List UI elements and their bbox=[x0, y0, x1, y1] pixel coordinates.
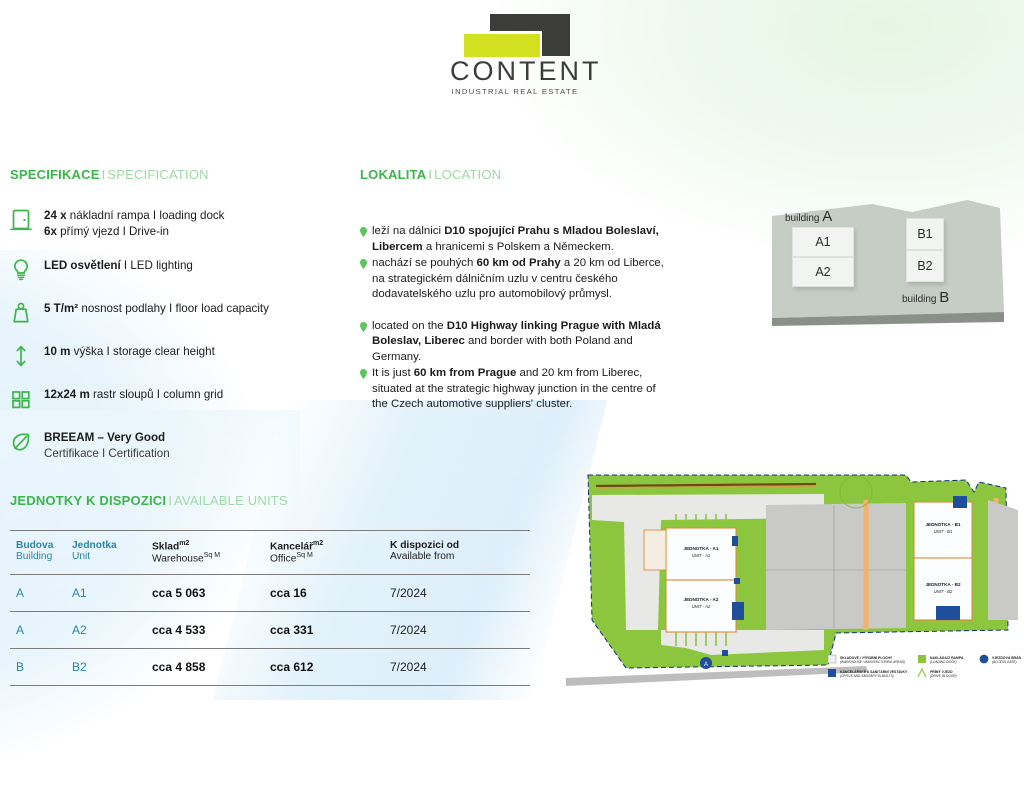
building-b-label-big: B bbox=[939, 289, 949, 306]
legend-label-2-en: (LOADING DOCK) bbox=[930, 660, 957, 664]
legend-label-1-en: (OFFICE AND SANITARY IN-BUILTS) bbox=[840, 674, 894, 678]
location-bullet-item: It is just 60 km from Prague and 20 km f… bbox=[360, 366, 670, 413]
unit-box-a1[interactable]: A1 bbox=[792, 227, 854, 257]
cell-available: 7/2024 bbox=[390, 648, 530, 685]
cell-building: B bbox=[10, 648, 72, 685]
unit-box-b1[interactable]: B1 bbox=[906, 218, 944, 250]
logo-shape-right bbox=[542, 14, 570, 56]
available-units-section: JEDNOTKY K DISPOZICIIAVAILABLE UNITS Bud… bbox=[10, 493, 530, 686]
cell-building: A bbox=[10, 611, 72, 648]
loc-pre-4: It is just bbox=[372, 367, 414, 379]
col-header-warehouse-unit-en: Sq M bbox=[204, 552, 220, 559]
map-pin-icon bbox=[360, 227, 367, 237]
table-header-row: Budova Building Jednotka Unit Skladm2 Wa… bbox=[10, 531, 530, 575]
specification-item: LED osvětlení I LED lighting bbox=[10, 257, 350, 282]
spec-bold-2: LED osvětlení bbox=[44, 259, 121, 272]
available-units-heading: JEDNOTKY K DISPOZICIIAVAILABLE UNITS bbox=[10, 493, 530, 508]
cell-warehouse: cca 4 533 bbox=[152, 611, 270, 648]
col-header-available: K dispozici od Available from bbox=[390, 531, 530, 575]
available-units-heading-en: AVAILABLE UNITS bbox=[174, 493, 288, 508]
loc-pre-1: leží na dálnici bbox=[372, 225, 444, 237]
col-header-available-en: Available from bbox=[390, 551, 530, 562]
col-header-building-en: Building bbox=[16, 551, 72, 562]
logo-tagline: INDUSTRIAL REAL ESTATE bbox=[450, 87, 580, 96]
spec-bold-1b: 6x bbox=[44, 225, 57, 238]
specification-item-text: 5 T/m² nosnost podlahy I floor load capa… bbox=[44, 300, 269, 317]
legend-label-0-en: (WAREHOUSE / MANUFACTURING AREAS) bbox=[840, 660, 905, 664]
location-bullet-item: leží na dálnici D10 spojující Prahu s Ml… bbox=[360, 224, 670, 255]
col-header-available-cz: K dispozici od bbox=[390, 540, 459, 551]
table-row[interactable]: A A1 cca 5 063 cca 16 7/2024 bbox=[10, 574, 530, 611]
location-heading: LOKALITAILOCATION bbox=[360, 167, 670, 182]
location-group-cz: leží na dálnici D10 spojující Prahu s Ml… bbox=[360, 224, 670, 303]
loc-post-1: a hranicemi s Polskem a Německem. bbox=[423, 241, 614, 253]
building-b-label-small: building bbox=[902, 294, 936, 305]
col-header-warehouse-en: Warehouse bbox=[152, 554, 204, 565]
specification-heading: SPECIFIKACEISPECIFICATION bbox=[10, 167, 350, 182]
plan-label-a2-cz: JEDNOTKA - A2 bbox=[684, 597, 719, 602]
col-header-building-cz: Budova bbox=[16, 540, 53, 551]
leaf-icon bbox=[10, 429, 44, 454]
cell-available: 7/2024 bbox=[390, 611, 530, 648]
location-heading-separator: I bbox=[426, 167, 434, 182]
specification-item-text: LED osvětlení I LED lighting bbox=[44, 257, 193, 274]
col-header-unit-cz: Jednotka bbox=[72, 540, 117, 551]
map-pin-icon bbox=[360, 369, 367, 379]
company-logo: CONTENT INDUSTRIAL REAL ESTATE bbox=[450, 12, 580, 96]
building-a-label-small: building bbox=[785, 213, 819, 224]
spec-rest-1b: přímý vjezd I Drive-in bbox=[57, 225, 169, 238]
buildings-diagram: building A A1 A2 B1 B2 building B bbox=[752, 186, 1014, 326]
specification-item: 5 T/m² nosnost podlahy I floor load capa… bbox=[10, 300, 350, 325]
col-header-unit: Jednotka Unit bbox=[72, 531, 152, 575]
col-header-warehouse-unit-cz: m2 bbox=[179, 540, 189, 547]
available-units-heading-separator: I bbox=[166, 493, 174, 508]
location-heading-cz: LOKALITA bbox=[360, 167, 426, 182]
table-row[interactable]: A A2 cca 4 533 cca 331 7/2024 bbox=[10, 611, 530, 648]
site-plan-legend: SKLADOVÉ / VÝROBNÍ PLOCHY (WAREHOUSE / M… bbox=[828, 655, 1021, 678]
col-header-office-cz: Kancelář bbox=[270, 541, 313, 552]
specification-item: 12x24 m rastr sloupů I column grid bbox=[10, 386, 350, 411]
location-body: leží na dálnici D10 spojující Prahu s Ml… bbox=[360, 224, 670, 413]
col-header-unit-en: Unit bbox=[72, 551, 152, 562]
cell-office: cca 331 bbox=[270, 611, 390, 648]
grid-icon bbox=[10, 386, 44, 411]
spec-bold-5: 12x24 m bbox=[44, 388, 90, 401]
legend-label-4-en: (ACCESS GATE) bbox=[992, 660, 1017, 664]
cell-available: 7/2024 bbox=[390, 574, 530, 611]
height-arrow-icon bbox=[10, 343, 44, 368]
col-header-office-en-wrap: OfficeSq M bbox=[270, 552, 390, 564]
loc-bold-2: 60 km od Prahy bbox=[477, 257, 561, 269]
plan-label-b1-en: UNIT - B1 bbox=[934, 529, 953, 534]
door-icon bbox=[10, 207, 44, 232]
col-header-office-en: Office bbox=[270, 554, 296, 565]
plan-label-b1-cz: JEDNOTKA - B1 bbox=[925, 522, 960, 527]
spec-bold-1: 24 x bbox=[44, 209, 67, 222]
legend-label-3-en: (DRIVE-IN DOOR) bbox=[930, 674, 957, 678]
cell-office: cca 16 bbox=[270, 574, 390, 611]
spec-rest-2: I LED lighting bbox=[121, 259, 193, 272]
spec-rest-3: nosnost podlahy I floor load capacity bbox=[78, 302, 269, 315]
specification-item-text: 24 x nákladní rampa I loading dock 6x př… bbox=[44, 207, 224, 239]
table-row[interactable]: B B2 cca 4 858 cca 612 7/2024 bbox=[10, 648, 530, 685]
cell-unit: B2 bbox=[72, 648, 152, 685]
spec-bold-3: 5 T/m² bbox=[44, 302, 78, 315]
logo-shape-accent bbox=[464, 34, 540, 57]
loc-pre-2: nachází se pouhých bbox=[372, 257, 477, 269]
plan-label-a2-en: UNIT - A2 bbox=[692, 604, 711, 609]
location-bullet-item: nachází se pouhých 60 km od Prahy a 20 k… bbox=[360, 256, 670, 303]
cell-unit: A1 bbox=[72, 574, 152, 611]
plan-label-a1-en: UNIT - A1 bbox=[692, 553, 710, 558]
building-b-label: building B bbox=[902, 289, 949, 306]
unit-box-b2[interactable]: B2 bbox=[906, 250, 944, 282]
logo-mark-icon bbox=[452, 12, 578, 57]
map-pin-icon bbox=[360, 322, 367, 332]
table-body: A A1 cca 5 063 cca 16 7/2024 A A2 cca 4 … bbox=[10, 574, 530, 685]
spec-rest-4: výška I storage clear height bbox=[70, 345, 214, 358]
col-header-office: Kancelářm2 OfficeSq M bbox=[270, 531, 390, 575]
location-group-en: located on the D10 Highway linking Pragu… bbox=[360, 319, 670, 413]
cell-office: cca 612 bbox=[270, 648, 390, 685]
specification-item: 24 x nákladní rampa I loading dock 6x př… bbox=[10, 207, 350, 239]
col-header-warehouse-en-wrap: WarehouseSq M bbox=[152, 552, 270, 564]
site-plan-drawing: A JEDNOTKA - A1 UNIT - A1 JEDNOTKA - A2 … bbox=[566, 470, 1021, 705]
cell-unit: A2 bbox=[72, 611, 152, 648]
plan-label-b2-en: UNIT - B2 bbox=[934, 589, 953, 594]
col-header-office-unit-cz: m2 bbox=[313, 540, 323, 547]
available-units-table: Budova Building Jednotka Unit Skladm2 Wa… bbox=[10, 530, 530, 686]
building-a-label: building A bbox=[785, 208, 832, 225]
spec-rest-1: nákladní rampa I loading dock bbox=[67, 209, 225, 222]
table-head: Budova Building Jednotka Unit Skladm2 Wa… bbox=[10, 531, 530, 575]
plan-label-b2-cz: JEDNOTKA - B2 bbox=[925, 582, 960, 587]
lightbulb-icon bbox=[10, 257, 44, 282]
weight-icon bbox=[10, 300, 44, 325]
specification-heading-cz: SPECIFIKACE bbox=[10, 167, 100, 182]
specification-item: BREEAM – Very Good Certifikace I Certifi… bbox=[10, 429, 350, 461]
spec-rest-5: rastr sloupů I column grid bbox=[90, 388, 223, 401]
col-header-office-unit-en: Sq M bbox=[296, 552, 312, 559]
building-a-label-big: A bbox=[822, 208, 832, 225]
svg-text:A: A bbox=[704, 662, 708, 668]
specification-item: 10 m výška I storage clear height bbox=[10, 343, 350, 368]
specification-list: 24 x nákladní rampa I loading dock 6x př… bbox=[10, 207, 350, 462]
col-header-warehouse: Skladm2 WarehouseSq M bbox=[152, 531, 270, 575]
available-units-heading-cz: JEDNOTKY K DISPOZICI bbox=[10, 493, 166, 508]
cell-building: A bbox=[10, 574, 72, 611]
unit-box-a2[interactable]: A2 bbox=[792, 257, 854, 287]
site-plan[interactable]: A JEDNOTKA - A1 UNIT - A1 JEDNOTKA - A2 … bbox=[566, 470, 1021, 705]
logo-wordmark: CONTENT bbox=[450, 57, 580, 85]
specification-item-text: BREEAM – Very Good Certifikace I Certifi… bbox=[44, 429, 170, 461]
spec-bold-4: 10 m bbox=[44, 345, 70, 358]
loc-pre-3: located on the bbox=[372, 320, 447, 332]
loc-bold-4: 60 km from Prague bbox=[414, 367, 517, 379]
specification-item-text: 10 m výška I storage clear height bbox=[44, 343, 215, 360]
cell-warehouse: cca 5 063 bbox=[152, 574, 270, 611]
col-header-warehouse-cz: Sklad bbox=[152, 541, 179, 552]
cell-warehouse: cca 4 858 bbox=[152, 648, 270, 685]
location-bullet-item: located on the D10 Highway linking Pragu… bbox=[360, 319, 670, 366]
col-header-building: Budova Building bbox=[10, 531, 72, 575]
specification-section: SPECIFIKACEISPECIFICATION 24 x nákladní … bbox=[10, 167, 350, 480]
specification-heading-en: SPECIFICATION bbox=[107, 167, 208, 182]
specification-item-text: 12x24 m rastr sloupů I column grid bbox=[44, 386, 223, 403]
location-section: LOKALITAILOCATION leží na dálnici D10 sp… bbox=[360, 167, 670, 429]
map-pin-icon bbox=[360, 259, 367, 269]
spec-rest-6: Certifikace I Certification bbox=[44, 447, 170, 460]
location-heading-en: LOCATION bbox=[434, 167, 501, 182]
plan-label-a1-cz: JEDNOTKA - A1 bbox=[684, 546, 719, 551]
spec-bold-6: BREEAM – Very Good bbox=[44, 431, 165, 444]
